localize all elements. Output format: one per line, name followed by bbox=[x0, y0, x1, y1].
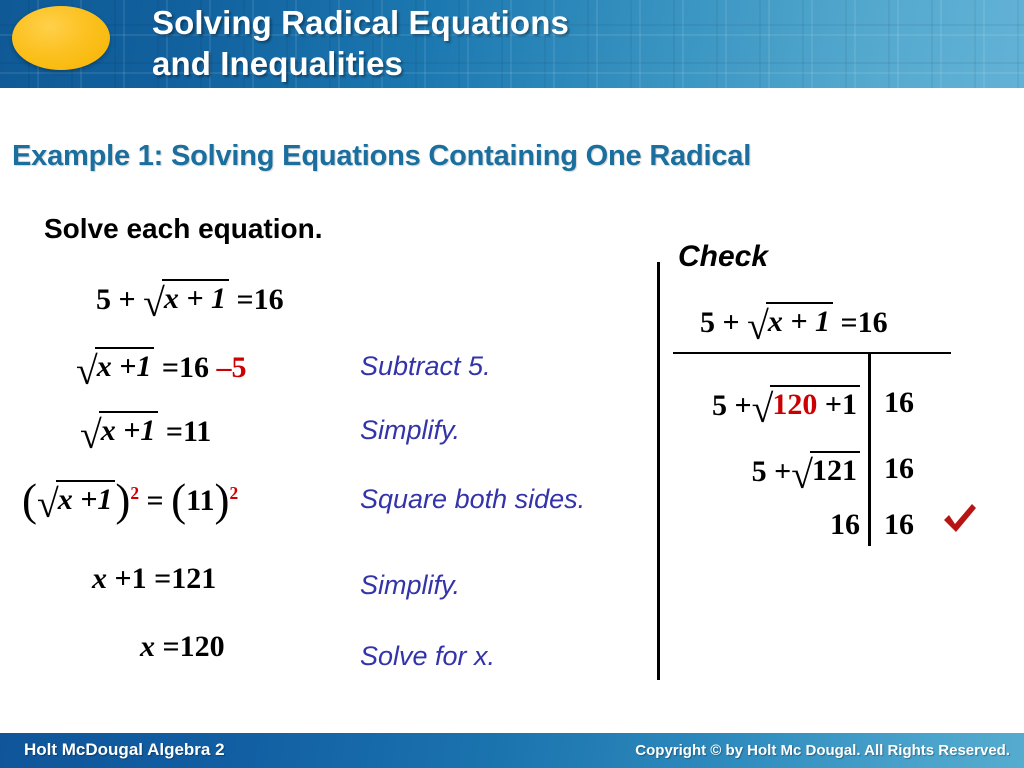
check-row1-radicand: 120 +1 bbox=[770, 385, 860, 422]
footer-copyright: Copyright © by Holt Mc Dougal. All Right… bbox=[635, 742, 1010, 759]
equation-row-2: √x +1 =16 –5 bbox=[76, 348, 246, 386]
row1-lead: 5 + bbox=[96, 283, 136, 316]
row2-radicand: x +1 bbox=[95, 347, 155, 384]
check-eq-radical-icon: √x + 1 bbox=[747, 303, 833, 341]
row4-rhs-open-paren: ( bbox=[171, 474, 186, 526]
check-eq-radicand: x + 1 bbox=[766, 302, 833, 339]
check-row1-highlight-120: 120 bbox=[772, 388, 817, 421]
row2-radical-icon: √x +1 bbox=[76, 348, 154, 386]
check-row1-radicand-rest: +1 bbox=[825, 388, 857, 421]
row4-close-paren: ) bbox=[115, 474, 130, 526]
row3-rhs: 11 bbox=[183, 415, 211, 448]
check-row-2-left: 5 +√121 bbox=[674, 452, 860, 490]
row4-rhs: 11 bbox=[186, 484, 214, 517]
check-column-divider bbox=[868, 353, 871, 546]
red-checkmark-icon bbox=[940, 500, 980, 540]
step-annotation-square: Square both sides. bbox=[360, 484, 585, 515]
check-eq-rhs: 16 bbox=[858, 306, 888, 339]
row1-equals: = bbox=[236, 283, 253, 316]
row6-rhs: 120 bbox=[180, 630, 225, 663]
check-eq-equals: = bbox=[840, 306, 857, 339]
instruction-text: Solve each equation. bbox=[44, 213, 323, 245]
check-row2-radicand: 121 bbox=[810, 451, 860, 488]
row3-equals: = bbox=[166, 415, 183, 448]
check-row-1-left: 5 +√120 +1 bbox=[674, 386, 860, 424]
slide-title: Solving Radical Equations and Inequaliti… bbox=[152, 2, 892, 84]
row4-exponent: 2 bbox=[130, 483, 139, 503]
row4-radicand: x +1 bbox=[56, 480, 116, 517]
row3-radical-icon: √x +1 bbox=[80, 412, 158, 450]
equation-row-3: √x +1 =11 bbox=[80, 412, 211, 450]
step-annotation-simplify-2: Simplify. bbox=[360, 570, 460, 601]
check-row2-radical-icon: √121 bbox=[791, 452, 860, 490]
check-eq-lead: 5 + bbox=[700, 306, 740, 339]
row4-radical-icon: √x +1 bbox=[37, 481, 115, 519]
footer-book-title: Holt McDougal Algebra 2 bbox=[24, 740, 225, 760]
check-equation: 5 + √x + 1 =16 bbox=[700, 303, 888, 341]
row1-radicand: x + 1 bbox=[162, 279, 229, 316]
row1-rhs: 16 bbox=[254, 283, 284, 316]
step-annotation-simplify-1: Simplify. bbox=[360, 415, 460, 446]
yellow-ellipse-icon bbox=[12, 6, 110, 70]
check-title: Check bbox=[678, 240, 768, 274]
equation-row-6: x =120 bbox=[140, 630, 225, 664]
check-row1-radical-icon: √120 +1 bbox=[752, 386, 860, 424]
equation-row-4: (√x +1)2 = (11)2 bbox=[22, 474, 238, 526]
row1-radical-icon: √x + 1 bbox=[143, 280, 229, 318]
row6-equals: = bbox=[163, 630, 180, 663]
row4-equals: = bbox=[147, 484, 164, 517]
equation-row-5: x +1 =121 bbox=[92, 562, 216, 596]
check-horizontal-rule bbox=[673, 352, 951, 354]
example-heading: Example 1: Solving Equations Containing … bbox=[12, 140, 751, 173]
row2-rhs: 16 bbox=[179, 351, 209, 384]
step-annotation-solve: Solve for x. bbox=[360, 641, 495, 672]
row4-rhs-close-paren: ) bbox=[215, 474, 230, 526]
row5-lhs-rest: +1 bbox=[115, 562, 147, 595]
row5-equals: = bbox=[154, 562, 171, 595]
slide: Solving Radical Equations and Inequaliti… bbox=[0, 0, 1024, 768]
row6-lhs-var: x bbox=[140, 630, 155, 663]
row3-radicand: x +1 bbox=[99, 411, 159, 448]
slide-header: Solving Radical Equations and Inequaliti… bbox=[0, 0, 1024, 88]
check-row-3-right: 16 bbox=[884, 508, 914, 542]
check-row-2-right: 16 bbox=[884, 452, 914, 486]
check-row-3-left: 16 bbox=[674, 508, 860, 542]
row2-equals: = bbox=[162, 351, 179, 384]
row2-minus: – bbox=[216, 351, 231, 384]
slide-footer: Holt McDougal Algebra 2 Copyright © by H… bbox=[0, 733, 1024, 768]
row5-rhs: 121 bbox=[171, 562, 216, 595]
row2-highlight-5: 5 bbox=[231, 351, 246, 384]
equation-row-1: 5 + √x + 1 =16 bbox=[96, 280, 284, 318]
step-annotation-subtract: Subtract 5. bbox=[360, 351, 491, 382]
row5-lhs-var: x bbox=[92, 562, 107, 595]
check-row-1-right: 16 bbox=[884, 386, 914, 420]
row4-open-paren: ( bbox=[22, 474, 37, 526]
check-row2-lead: 5 + bbox=[752, 455, 792, 488]
row4-rhs-exponent: 2 bbox=[230, 483, 239, 503]
check-row1-lead: 5 + bbox=[712, 389, 752, 422]
section-divider bbox=[657, 262, 660, 680]
